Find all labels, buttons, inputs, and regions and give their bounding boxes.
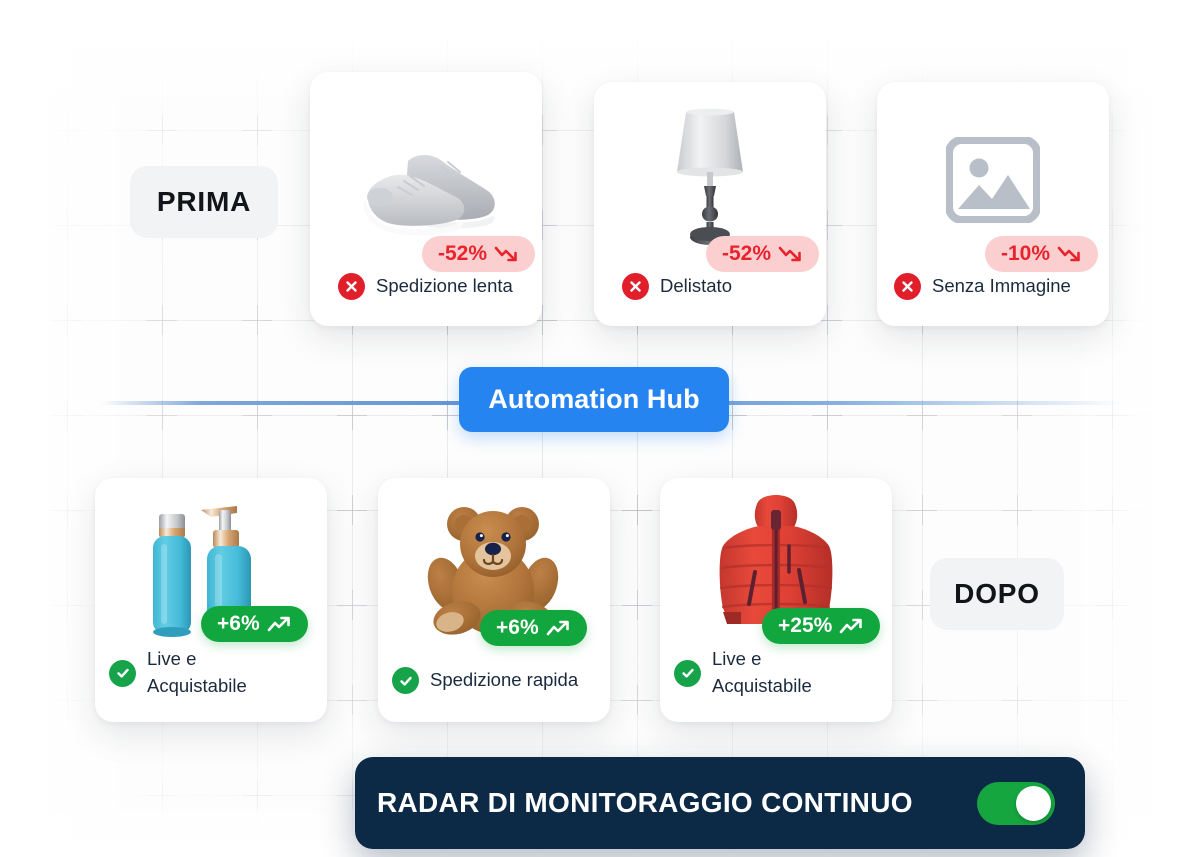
radar-label: RADAR DI MONITORAGGIO CONTINUO [377, 787, 913, 819]
grid-cross-icon [337, 685, 367, 715]
grid-cross-icon [1097, 495, 1127, 525]
badge-decline: -52% [422, 236, 535, 272]
grid-cross-icon [337, 590, 367, 620]
grid-cross-icon [1192, 685, 1200, 715]
check-circle-icon [392, 667, 419, 694]
grid-cross-icon [622, 685, 652, 715]
grid-cross-icon [52, 210, 82, 240]
after-chip: DOPO [930, 558, 1064, 630]
running-shoes-icon [346, 131, 506, 243]
grid-cross-icon [147, 780, 177, 810]
grid-cross-icon [52, 780, 82, 810]
grid-cross-icon [622, 590, 652, 620]
infographic-stage: PRIMA [0, 0, 1200, 857]
status-label: Senza Immagine [932, 273, 1071, 300]
grid-cross-icon [337, 20, 367, 50]
badge-decline: -10% [985, 236, 1098, 272]
grid-cross-icon [907, 495, 937, 525]
status-label: Live e Acquistabile [712, 646, 832, 700]
check-circle-icon [109, 660, 136, 687]
grid-cross-icon [242, 780, 272, 810]
after-card-bottles[interactable]: +6% Live e Acquistabile [95, 478, 327, 722]
grid-cross-icon [1002, 20, 1032, 50]
grid-cross-icon [1097, 685, 1127, 715]
card-status-row: Spedizione rapida [378, 667, 610, 722]
grid-cross-icon [1192, 400, 1200, 430]
after-card-teddy[interactable]: +6% Spedizione rapida [378, 478, 610, 722]
grid-cross-icon [812, 20, 842, 50]
trend-up-arrow-icon [546, 619, 571, 637]
badge-growth: +6% [480, 610, 587, 646]
card-status-row: Spedizione lenta [310, 273, 542, 326]
before-chip-label: PRIMA [157, 186, 251, 218]
trend-down-arrow-icon [778, 245, 803, 263]
grid-cross-icon [622, 20, 652, 50]
product-image-placeholder [877, 120, 1109, 240]
grid-cross-icon [907, 685, 937, 715]
product-image-lamp [594, 106, 826, 252]
grid-cross-icon [52, 685, 82, 715]
table-lamp-icon [655, 106, 765, 252]
grid-cross-icon [52, 115, 82, 145]
image-placeholder-icon [946, 137, 1040, 223]
trend-up-arrow-icon [839, 617, 864, 635]
card-status-row: Live e Acquistabile [660, 646, 892, 722]
after-card-jacket[interactable]: +25% Live e Acquistabile [660, 478, 892, 722]
badge-value: +6% [217, 612, 260, 636]
grid-cross-icon [1097, 780, 1127, 810]
grid-cross-icon [147, 305, 177, 335]
card-status-row: Live e Acquistabile [95, 646, 327, 722]
grid-cross-icon [147, 115, 177, 145]
grid-cross-icon [1192, 115, 1200, 145]
product-image-shoes [310, 122, 542, 252]
grid-cross-icon [147, 20, 177, 50]
badge-growth: +25% [762, 608, 880, 644]
check-circle-icon [674, 660, 701, 687]
after-chip-label: DOPO [954, 578, 1040, 610]
toggle-knob [1016, 786, 1051, 821]
x-circle-icon [894, 273, 921, 300]
grid-cross-icon [527, 20, 557, 50]
grid-cross-icon [432, 20, 462, 50]
x-circle-icon [622, 273, 649, 300]
grid-cross-icon [337, 495, 367, 525]
grid-cross-icon [1192, 305, 1200, 335]
radar-monitoring-bar[interactable]: RADAR DI MONITORAGGIO CONTINUO [355, 757, 1085, 849]
badge-value: -52% [438, 242, 487, 266]
grid-cross-icon [52, 590, 82, 620]
grid-cross-icon [242, 20, 272, 50]
grid-cross-icon [1192, 590, 1200, 620]
automation-hub-pill[interactable]: Automation Hub [459, 367, 729, 432]
badge-growth: +6% [201, 606, 308, 642]
badge-decline: -52% [706, 236, 819, 272]
grid-cross-icon [1192, 495, 1200, 525]
status-label: Spedizione rapida [430, 667, 578, 694]
grid-cross-icon [52, 305, 82, 335]
before-chip: PRIMA [130, 166, 278, 238]
grid-cross-icon [1097, 590, 1127, 620]
grid-cross-icon [622, 495, 652, 525]
status-label: Delistato [660, 273, 732, 300]
status-label: Spedizione lenta [376, 273, 513, 300]
card-status-row: Delistato [594, 273, 826, 326]
automation-hub-label: Automation Hub [488, 384, 699, 415]
before-card-lamp[interactable]: -52% Delistato [594, 82, 826, 326]
status-label: Live e Acquistabile [147, 646, 267, 700]
grid-cross-icon [1192, 210, 1200, 240]
card-status-row: Senza Immagine [877, 273, 1109, 326]
badge-value: +6% [496, 616, 539, 640]
grid-cross-icon [52, 400, 82, 430]
grid-cross-icon [907, 20, 937, 50]
grid-cross-icon [242, 305, 272, 335]
grid-cross-icon [717, 20, 747, 50]
grid-cross-icon [1002, 495, 1032, 525]
badge-value: -10% [1001, 242, 1050, 266]
badge-value: +25% [778, 614, 832, 638]
grid-cross-icon [242, 115, 272, 145]
x-circle-icon [338, 273, 365, 300]
trend-up-arrow-icon [267, 615, 292, 633]
before-card-shoes[interactable]: -52% Spedizione lenta [310, 72, 542, 326]
badge-value: -52% [722, 242, 771, 266]
radar-toggle-switch[interactable] [977, 782, 1055, 825]
before-card-no-image[interactable]: -10% Senza Immagine [877, 82, 1109, 326]
grid-cross-icon [1002, 685, 1032, 715]
trend-down-arrow-icon [494, 245, 519, 263]
grid-cross-icon [52, 495, 82, 525]
trend-down-arrow-icon [1057, 245, 1082, 263]
